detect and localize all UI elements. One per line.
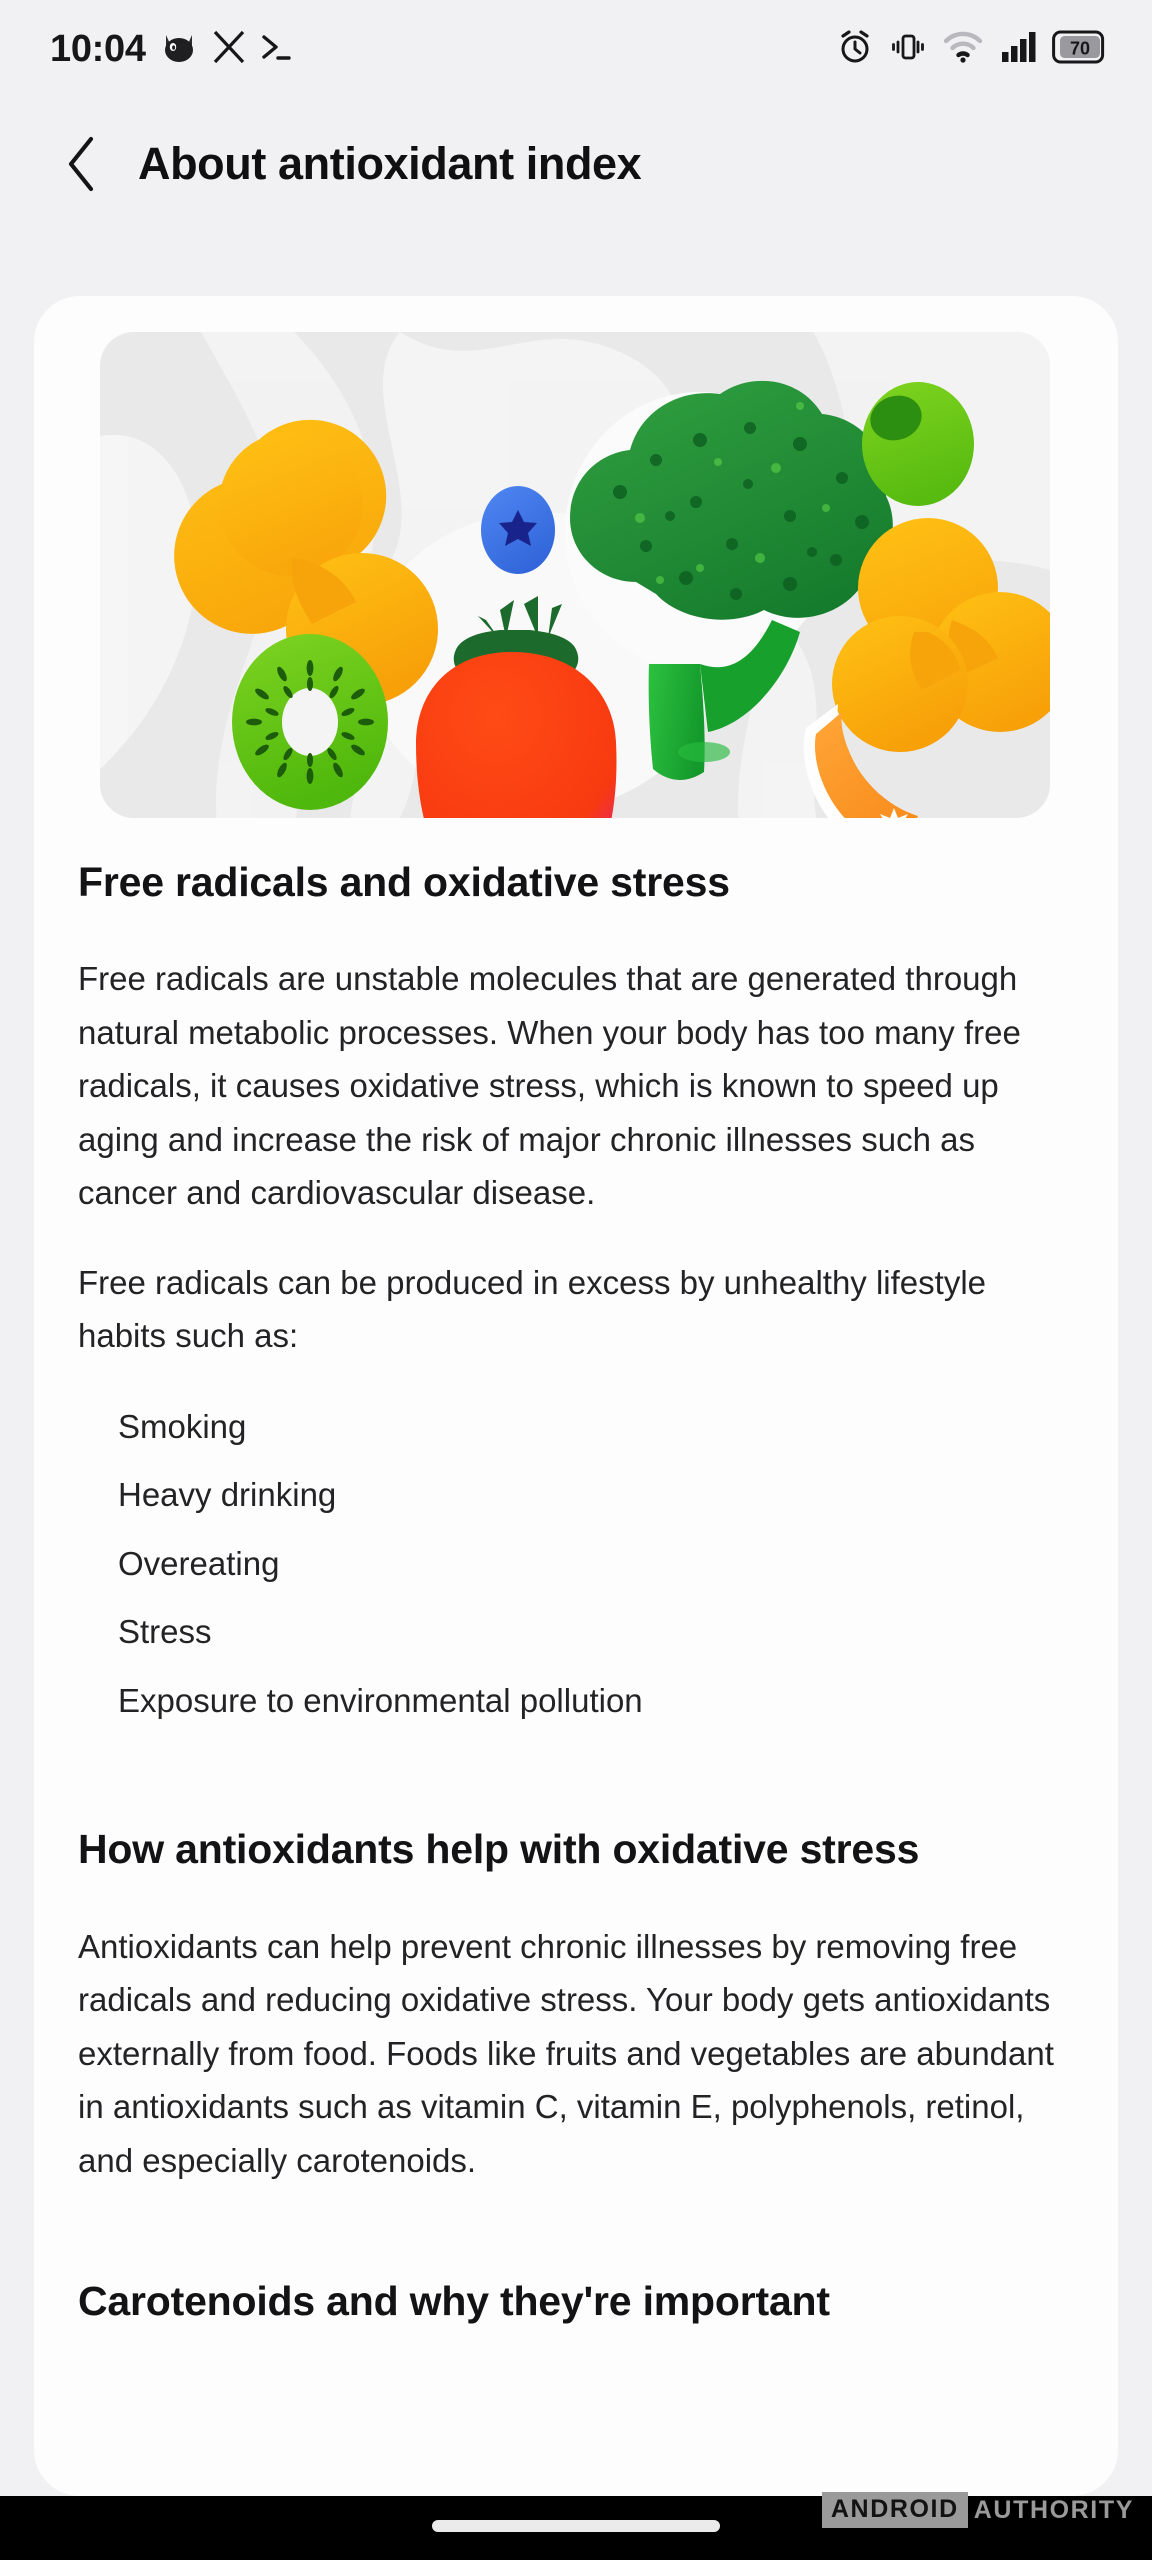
phone-screen: 10:04 [0,0,1152,2560]
section-2-paragraph-1: Antioxidants can help prevent chronic il… [78,1920,1074,2187]
signal-icon [999,29,1037,70]
watermark-primary: ANDROID [822,2492,968,2528]
x-app-icon [212,29,246,70]
article-body: Free radicals and oxidative stress Free … [34,856,1118,2328]
battery-level-text: 70 [1070,38,1090,58]
watermark: ANDROID AUTHORITY [822,2492,1134,2528]
status-bar: 10:04 [0,0,1152,98]
section-heading-1: Free radicals and oxidative stress [78,856,1074,908]
app-header: About antioxidant index [0,98,1152,230]
lifestyle-habits-list: Smoking Heavy drinking Overeating Stress… [78,1393,1074,1736]
list-item: Exposure to environmental pollution [118,1667,1074,1736]
list-item: Smoking [118,1393,1074,1462]
status-bar-right: 70 [836,28,1106,71]
cat-icon [159,27,199,72]
page-title: About antioxidant index [138,138,641,190]
vibrate-icon [889,28,927,71]
status-bar-left: 10:04 [50,27,293,72]
list-item: Overeating [118,1530,1074,1599]
home-indicator[interactable] [432,2520,720,2532]
status-bar-clock: 10:04 [50,28,146,71]
alarm-icon [836,28,874,71]
list-item: Stress [118,1598,1074,1667]
section-heading-3: Carotenoids and why they're important [78,2275,1074,2327]
battery-icon: 70 [1052,30,1106,69]
blueberry [481,486,555,574]
back-button[interactable] [56,134,108,194]
kiwi-slice [232,634,388,810]
watermark-secondary: AUTHORITY [974,2496,1134,2525]
section-heading-2: How antioxidants help with oxidative str… [78,1823,1074,1875]
wifi-icon [942,29,984,70]
system-nav-bar: ANDROID AUTHORITY [0,2496,1152,2560]
terminal-icon [259,29,293,70]
chevron-left-icon [65,135,99,193]
antioxidant-illustration [100,332,1050,818]
content-card: Free radicals and oxidative stress Free … [34,296,1118,2496]
green-grape [862,382,974,506]
section-1-paragraph-1: Free radicals are unstable molecules tha… [78,952,1074,1219]
section-1-paragraph-2: Free radicals can be produced in excess … [78,1256,1074,1363]
list-item: Heavy drinking [118,1461,1074,1530]
